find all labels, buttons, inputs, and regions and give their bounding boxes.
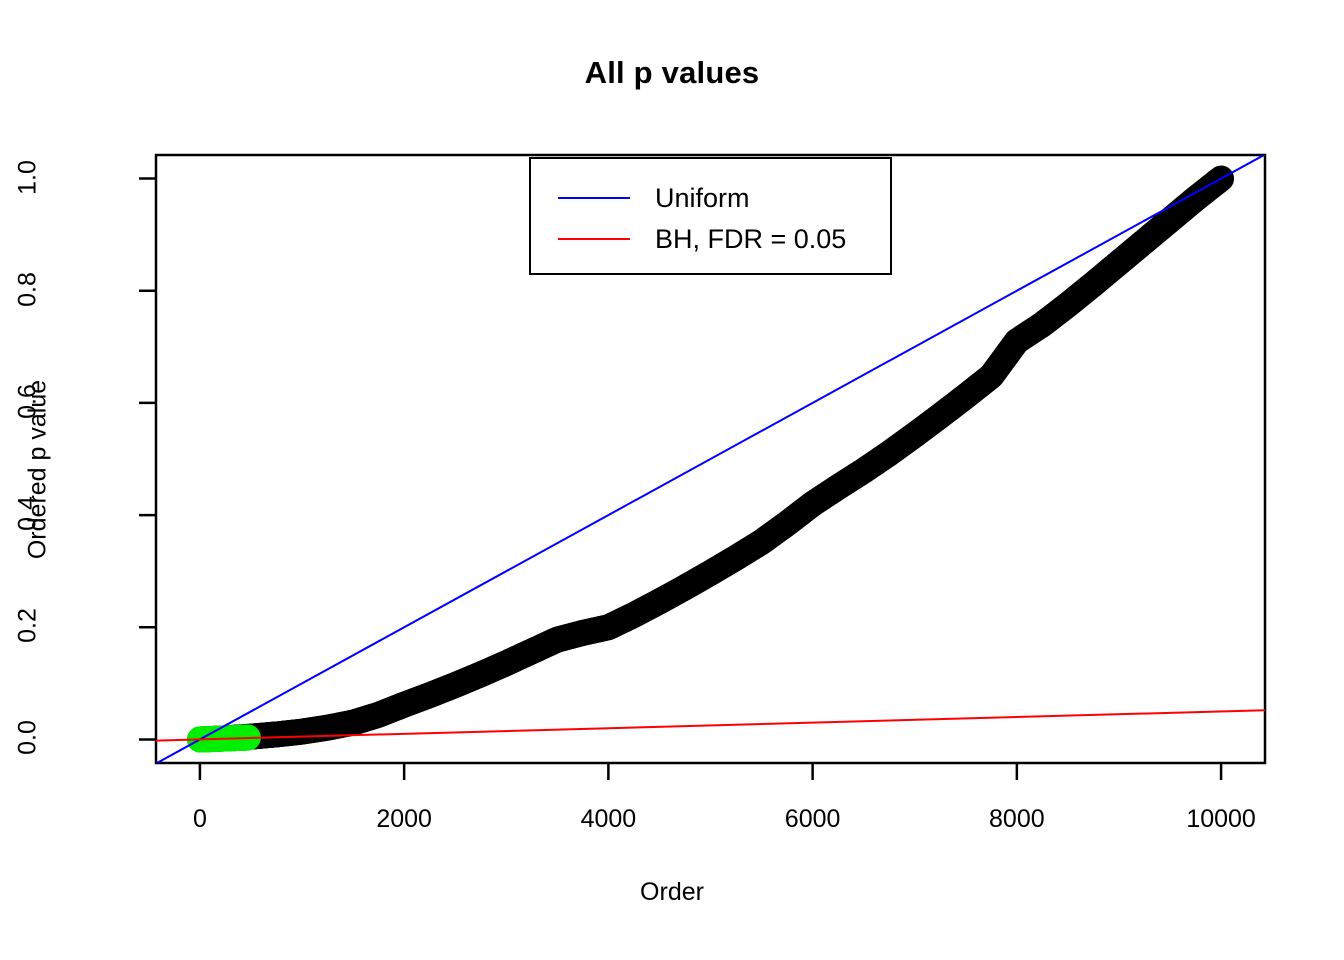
x-tick-label: 10000 [1151, 805, 1291, 834]
legend-entry-uniform: Uniform [531, 176, 750, 220]
plot-figure: All p values Ordered p value Order 02000… [0, 0, 1344, 960]
legend-swatch-bh [558, 238, 630, 240]
x-tick-label: 2000 [334, 805, 474, 834]
legend-entry-bh: BH, FDR = 0.05 [531, 217, 846, 261]
x-tick-label: 8000 [947, 805, 1087, 834]
x-tick-label: 0 [130, 805, 270, 834]
legend-swatch-uniform [558, 197, 630, 199]
x-tick-label: 6000 [743, 805, 883, 834]
x-tick-label: 4000 [538, 805, 678, 834]
y-tick-label: 1.0 [14, 107, 43, 247]
legend: Uniform BH, FDR = 0.05 [529, 157, 892, 275]
legend-label-bh: BH, FDR = 0.05 [655, 224, 846, 255]
legend-label-uniform: Uniform [655, 183, 750, 214]
